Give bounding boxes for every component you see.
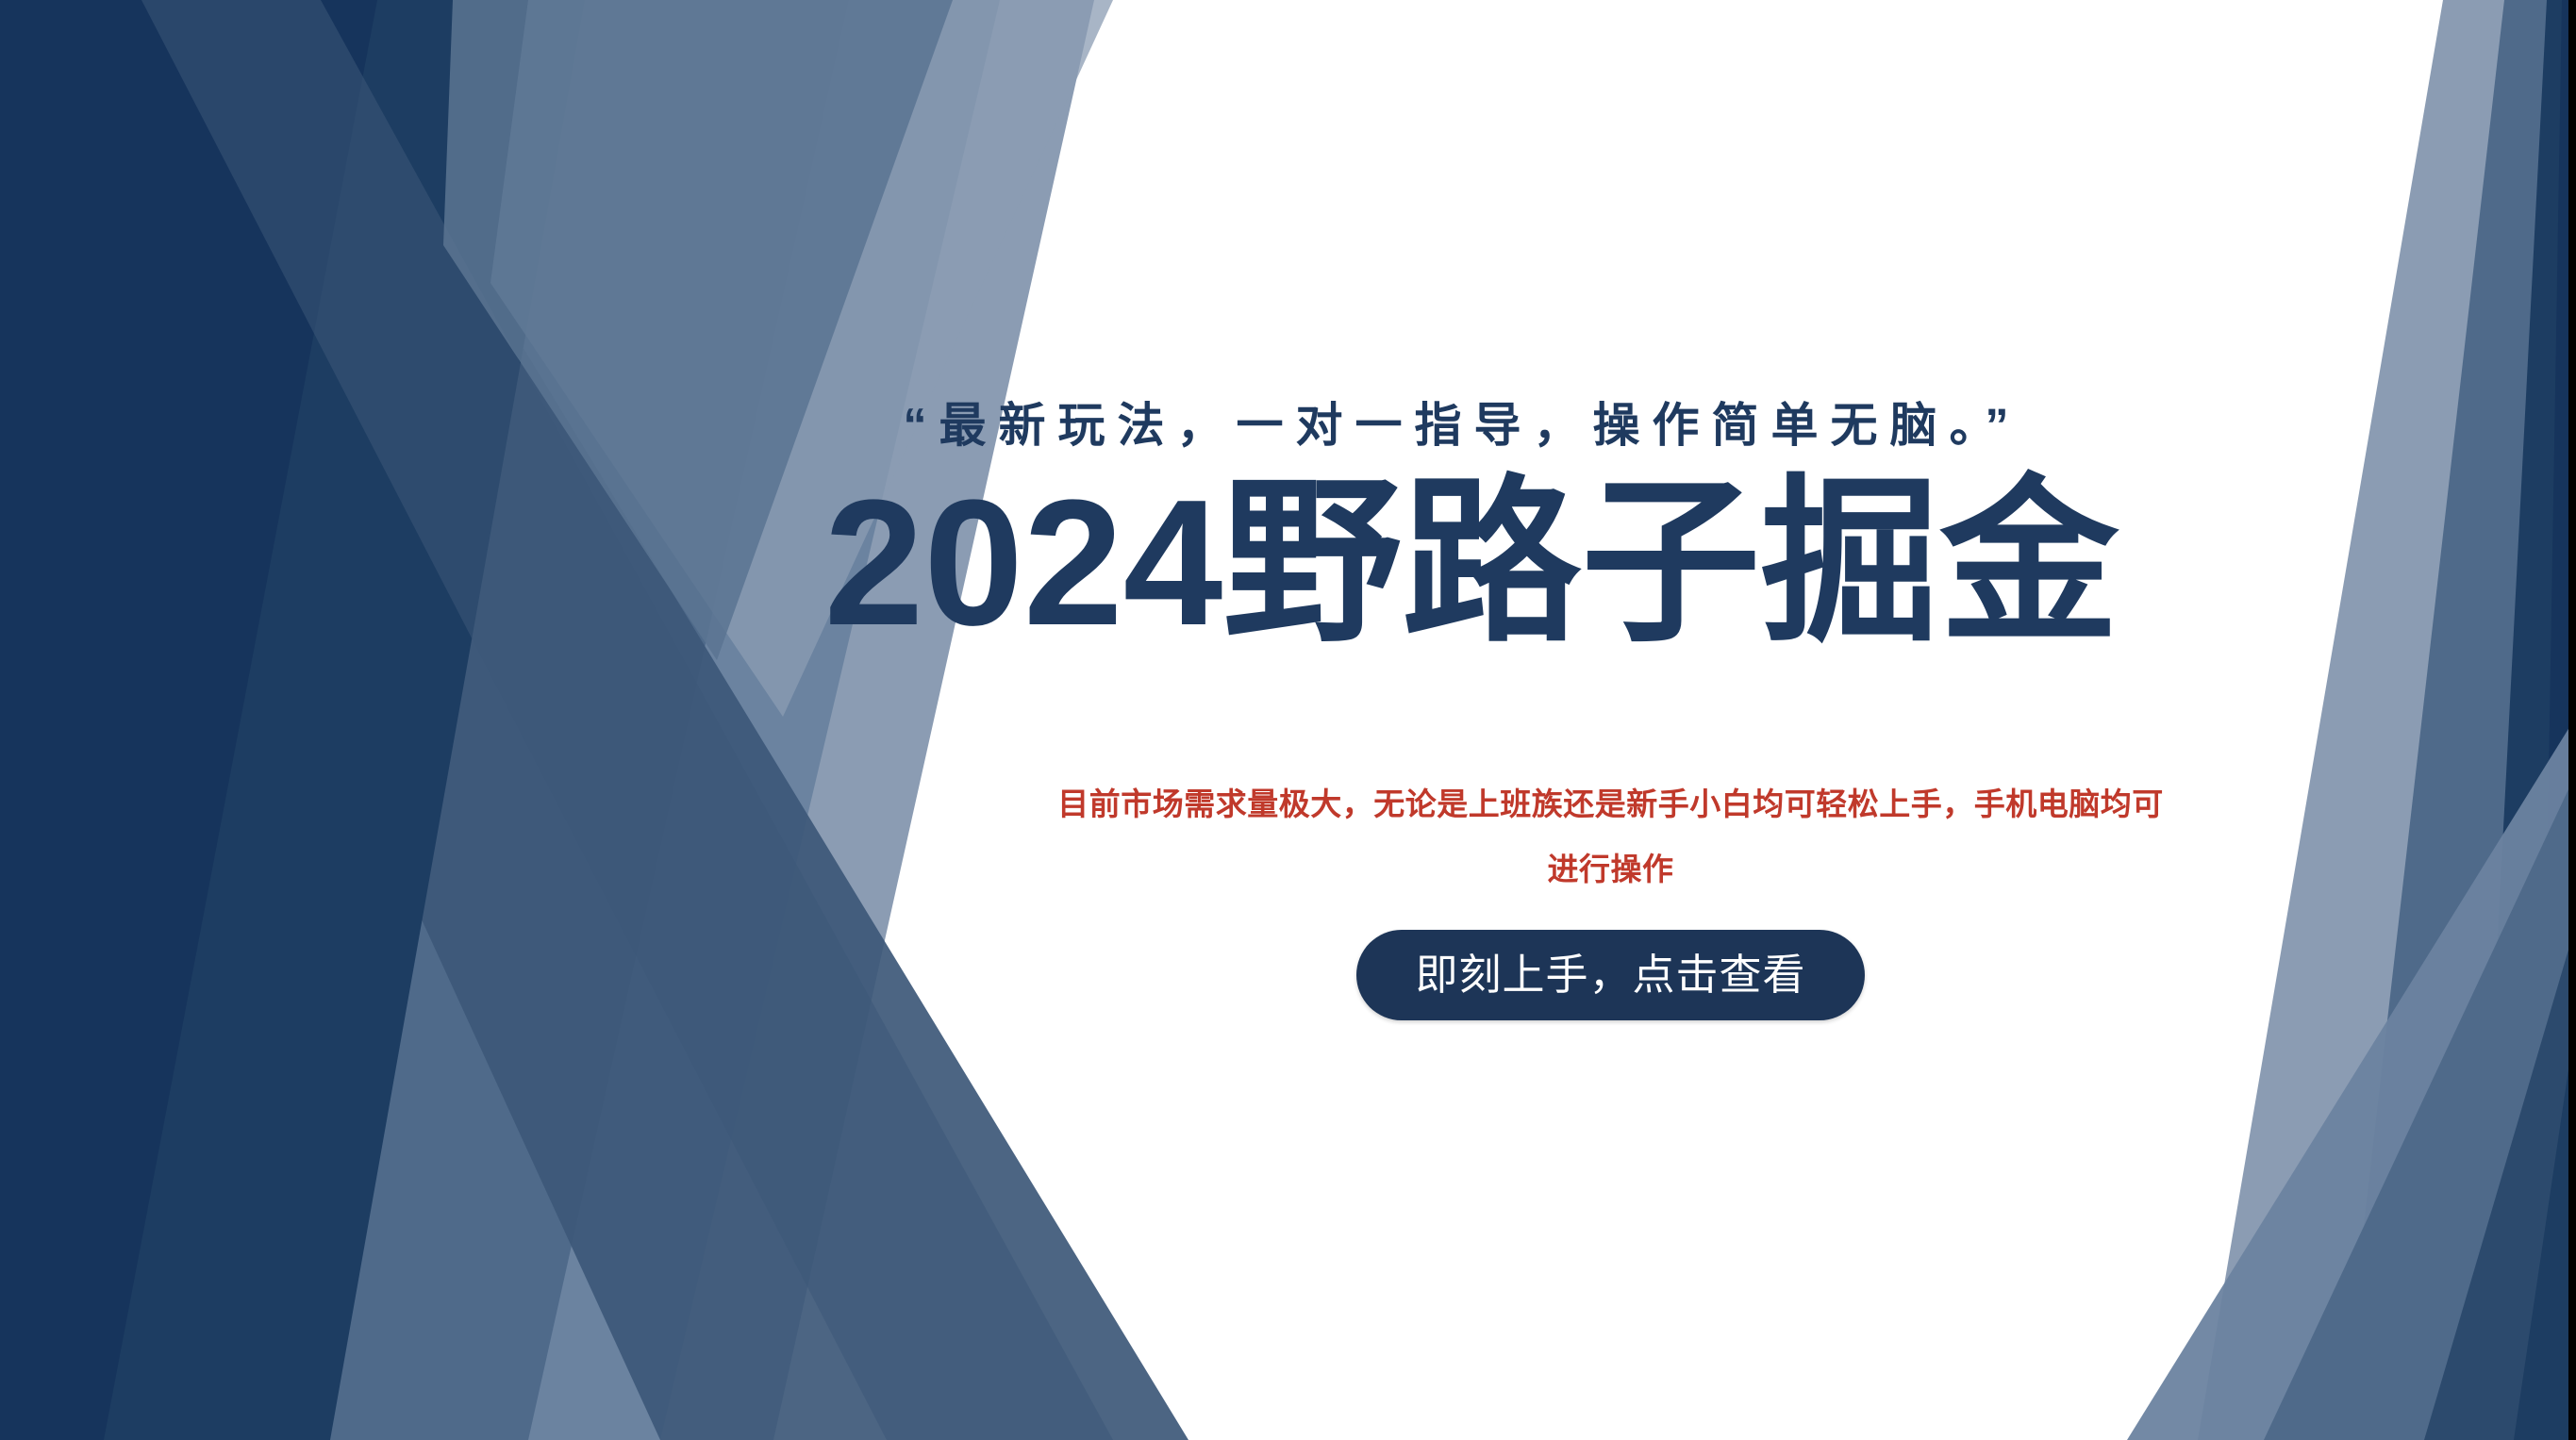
hero-subtitle-line-1: 目前市场需求量极大，无论是上班族还是新手小白均可轻松上手，手机电脑均可 xyxy=(1042,771,2179,836)
hero-subtitle-line-2: 进行操作 xyxy=(1042,836,2179,902)
slide-canvas: “最新玩法，一对一指导，操作简单无脑。” 2024野路子掘金 目前市场需求量极大… xyxy=(0,0,2576,1440)
hero-subtitle: 目前市场需求量极大，无论是上班族还是新手小白均可轻松上手，手机电脑均可 进行操作 xyxy=(1042,771,2179,902)
hero-content: “最新玩法，一对一指导，操作简单无脑。” 2024野路子掘金 目前市场需求量极大… xyxy=(0,0,2576,1440)
page-title: 2024野路子掘金 xyxy=(585,467,2358,660)
cta-container: 即刻上手，点击查看 xyxy=(1042,930,2179,1020)
hero-quote: “最新玩法，一对一指导，操作简单无脑。” xyxy=(660,396,2264,455)
cta-button[interactable]: 即刻上手，点击查看 xyxy=(1356,930,1864,1020)
